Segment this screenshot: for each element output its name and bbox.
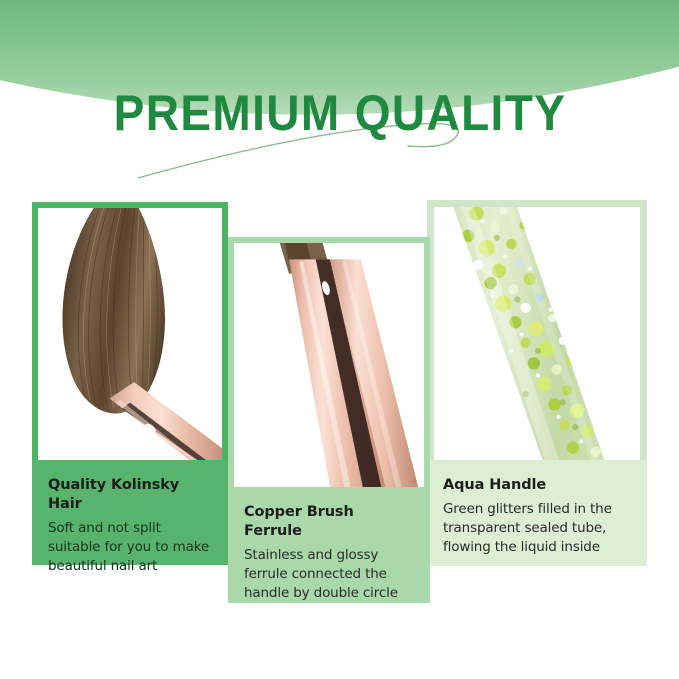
card-title-aqua-handle: Aqua Handle [443, 476, 631, 495]
card-title-copper-ferrule: Copper Brush Ferrule [244, 503, 414, 541]
page-title: PREMIUM QUALITY [113, 86, 566, 140]
card-body-kolinsky-hair: Soft and not split suitable for you to m… [48, 519, 212, 576]
card-body-aqua-handle: Green glitters filled in the transparent… [443, 500, 631, 557]
card-caption-copper-ferrule: Copper Brush Ferrule Stainless and gloss… [228, 487, 430, 603]
card-caption-aqua-handle: Aqua Handle Green glitters filled in the… [427, 460, 647, 566]
feature-card-copper-brush-ferrule: Copper Brush Ferrule Stainless and gloss… [228, 237, 430, 603]
feature-card-aqua-handle: Aqua Handle Green glitters filled in the… [427, 200, 647, 566]
kolinsky-brush-illustration [38, 208, 222, 460]
aqua-handle-illustration [434, 207, 640, 460]
card-body-copper-ferrule: Stainless and glossy ferrule connected t… [244, 546, 414, 603]
card-photo-aqua-handle [427, 200, 647, 460]
page-title-wrap: PREMIUM QUALITY [0, 86, 679, 140]
feature-card-quality-kolinsky-hair: Quality Kolinsky Hair Soft and not split… [32, 202, 228, 565]
copper-ferrule-illustration [234, 243, 424, 487]
card-photo-copper-ferrule [228, 237, 430, 487]
card-title-kolinsky-hair: Quality Kolinsky Hair [48, 476, 212, 514]
card-caption-kolinsky-hair: Quality Kolinsky Hair Soft and not split… [32, 460, 228, 565]
card-photo-kolinsky-hair [32, 202, 228, 460]
